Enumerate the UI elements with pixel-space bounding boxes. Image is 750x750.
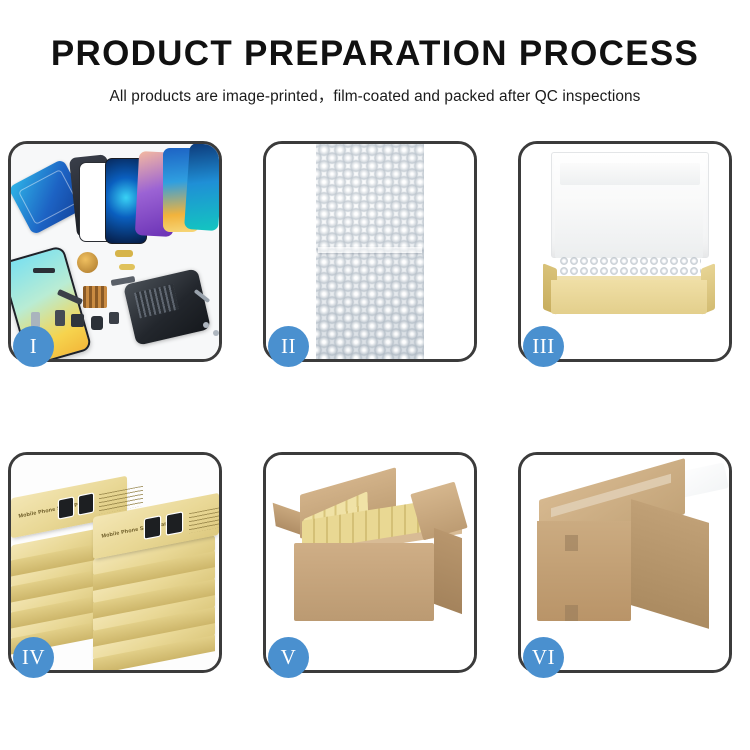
pouch-seal-line	[318, 247, 422, 253]
page-subtitle: All products are image-printed，film-coat…	[0, 73, 750, 106]
step-image-carton-filling	[266, 455, 474, 670]
part-copper-coil	[77, 252, 98, 273]
part-gold-flex-1	[115, 250, 133, 257]
part-module-3	[91, 316, 103, 330]
phone-teal	[184, 144, 219, 231]
step-badge-4: IV	[13, 637, 54, 678]
carton-tab-lower	[565, 605, 578, 621]
step-badge-5: V	[268, 637, 309, 678]
part-module-4	[109, 312, 119, 324]
carton-tab-upper	[565, 535, 578, 551]
step-panel-6: VI	[518, 452, 732, 673]
step-panel-5: V	[263, 452, 477, 673]
product-preparation-infographic: PRODUCT PREPARATION PROCESS All products…	[0, 0, 750, 750]
carton-side-panel	[434, 528, 462, 614]
page-title: PRODUCT PREPARATION PROCESS	[0, 0, 750, 73]
step-badge-6: VI	[523, 637, 564, 678]
carton-front-panel	[294, 543, 434, 621]
step-image-inner-box	[521, 144, 729, 359]
step-badge-3: III	[523, 326, 564, 367]
step-image-bubble-wrap	[266, 144, 474, 359]
part-connector-grid	[83, 286, 107, 308]
step-panel-1: I	[8, 141, 222, 362]
steps-grid: I II III	[8, 141, 742, 675]
phone-opened-internals	[123, 268, 211, 346]
box-front-yellow	[551, 280, 707, 314]
part-module-1	[55, 310, 65, 326]
part-gold-flex-2	[119, 264, 135, 270]
step-image-products	[11, 144, 219, 359]
step-panel-4: Mobile Phone Spare Parts Mobile Phone Sp…	[8, 452, 222, 673]
part-flex-strip	[33, 268, 55, 273]
step-panel-3: III	[518, 141, 732, 362]
carton-side-panel	[631, 499, 709, 629]
box-foam-sheet	[555, 196, 703, 258]
part-screw-2	[213, 330, 219, 336]
step-image-carton-sealed	[521, 455, 729, 670]
header: PRODUCT PREPARATION PROCESS All products…	[0, 0, 750, 106]
carton-front-panel	[537, 521, 631, 621]
step-badge-2: II	[268, 326, 309, 367]
step-badge-1: I	[13, 326, 54, 367]
part-module-2	[71, 314, 84, 327]
part-screw-1	[203, 322, 209, 328]
step-image-stacked-boxes: Mobile Phone Spare Parts Mobile Phone Sp…	[11, 455, 219, 670]
box-stack-labelled: Mobile Phone Spare Parts	[93, 505, 219, 547]
step-panel-2: II	[263, 141, 477, 362]
